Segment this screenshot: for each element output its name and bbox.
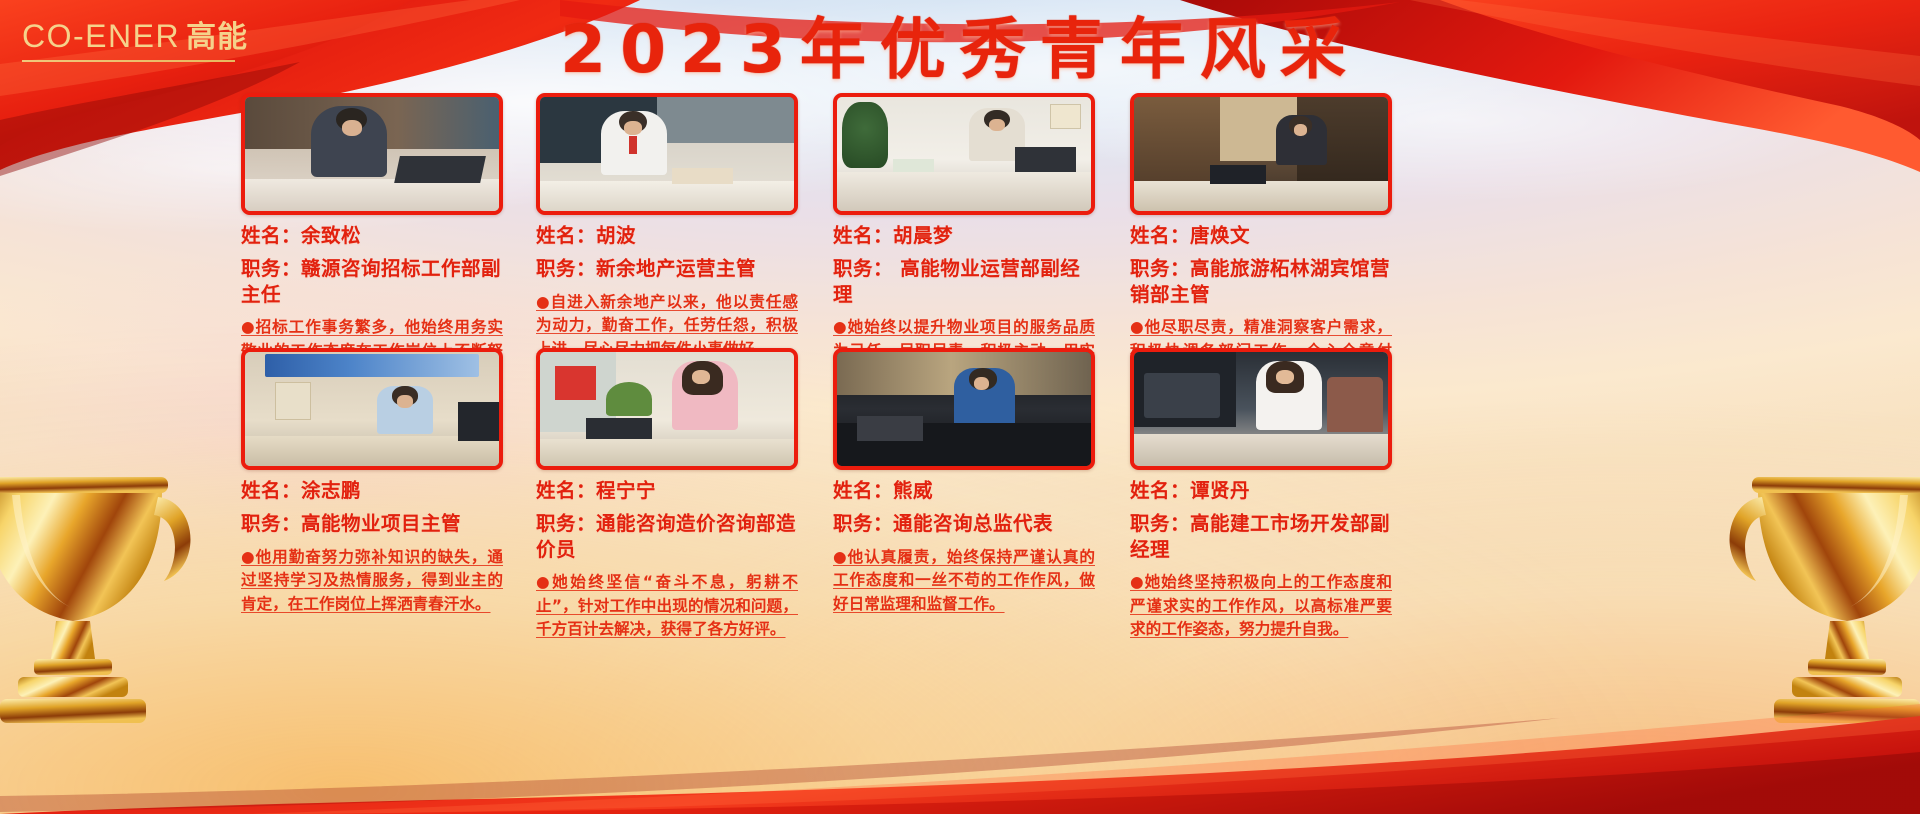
profile-description: ●他认真履责，始终保持严谨认真的工作态度和一丝不苟的工作作风，做好日常监理和监督… [833, 546, 1095, 617]
logo-chinese-text: 高能 [186, 12, 248, 56]
profile-name-line: 姓名：涂志鹏 [241, 478, 503, 503]
profile-card-tu-zhipeng[interactable]: 姓名：涂志鹏 职务：高能物业项目主管 ●他用勤奋努力弥补知识的缺失，通过坚持学习… [241, 348, 503, 617]
profile-description: ●她始终坚持积极向上的工作态度和严谨求实的工作作风，以高标准严要求的工作姿态，努… [1130, 571, 1392, 642]
profile-role-line: 职务：新余地产运营主管 [536, 256, 798, 281]
profile-role-line: 职务：赣源咨询招标工作部副主任 [241, 256, 503, 307]
profile-name-line: 姓名：胡晨梦 [833, 223, 1095, 248]
profile-photo [833, 93, 1095, 215]
profile-card-hu-bo[interactable]: 姓名：胡波 职务：新余地产运营主管 ●自进入新余地产以来，他以责任感为动力，勤奋… [536, 93, 798, 362]
profile-name-line: 姓名：程宁宁 [536, 478, 798, 503]
profile-role-line: 职务：高能建工市场开发部副经理 [1130, 511, 1392, 562]
profile-photo [536, 348, 798, 470]
profile-description: ●他用勤奋努力弥补知识的缺失，通过坚持学习及热情服务，得到业主的肯定，在工作岗位… [241, 546, 503, 617]
profile-card-xiong-wei[interactable]: 姓名：熊威 职务：通能咨询总监代表 ●他认真履责，始终保持严谨认真的工作态度和一… [833, 348, 1095, 617]
profile-name-line: 姓名：胡波 [536, 223, 798, 248]
profile-photo [241, 93, 503, 215]
profile-name-line: 姓名：谭贤丹 [1130, 478, 1392, 503]
profile-photo [241, 348, 503, 470]
co-ener-logo: CO-ENER 高能 [22, 12, 248, 56]
profile-photo [833, 348, 1095, 470]
profile-name-line: 姓名：熊威 [833, 478, 1095, 503]
profile-role-line: 职务：通能咨询造价咨询部造价员 [536, 511, 798, 562]
logo-underline [22, 60, 235, 62]
page-title: 2023年优秀青年风采 [0, 14, 1920, 85]
profile-name-line: 姓名：唐焕文 [1130, 223, 1392, 248]
poster-canvas: CO-ENER 高能 2023年优秀青年风采 [0, 0, 1920, 814]
profile-card-grid: 姓名：余致松 职务：赣源咨询招标工作部副主任 ●招标工作事务繁多，他始终用务实敬… [0, 90, 1920, 790]
profile-photo [1130, 348, 1392, 470]
profile-role-line: 职务：通能咨询总监代表 [833, 511, 1095, 536]
profile-card-cheng-ningning[interactable]: 姓名：程宁宁 职务：通能咨询造价咨询部造价员 ●她始终坚信“奋斗不息，躬耕不止”… [536, 348, 798, 642]
profile-name-line: 姓名：余致松 [241, 223, 503, 248]
profile-card-tang-huanwen[interactable]: 姓名：唐焕文 职务：高能旅游柘林湖宾馆营销部主管 ●他尽职尽责，精准洞察客户需求… [1130, 93, 1392, 387]
profile-description: ●她始终坚信“奋斗不息，躬耕不止”，针对工作中出现的情况和问题，千方百计去解决，… [536, 571, 798, 642]
profile-photo [536, 93, 798, 215]
profile-photo [1130, 93, 1392, 215]
logo-latin-text: CO-ENER [22, 18, 180, 55]
profile-card-tan-xiandan[interactable]: 姓名：谭贤丹 职务：高能建工市场开发部副经理 ●她始终坚持积极向上的工作态度和严… [1130, 348, 1392, 642]
profile-card-hu-chenmeng[interactable]: 姓名：胡晨梦 职务： 高能物业运营部副经理 ●她始终以提升物业项目的服务品质为己… [833, 93, 1095, 387]
profile-role-line: 职务： 高能物业运营部副经理 [833, 256, 1095, 307]
profile-role-line: 职务：高能物业项目主管 [241, 511, 503, 536]
profile-role-line: 职务：高能旅游柘林湖宾馆营销部主管 [1130, 256, 1392, 307]
profile-card-yu-zhisong[interactable]: 姓名：余致松 职务：赣源咨询招标工作部副主任 ●招标工作事务繁多，他始终用务实敬… [241, 93, 503, 387]
